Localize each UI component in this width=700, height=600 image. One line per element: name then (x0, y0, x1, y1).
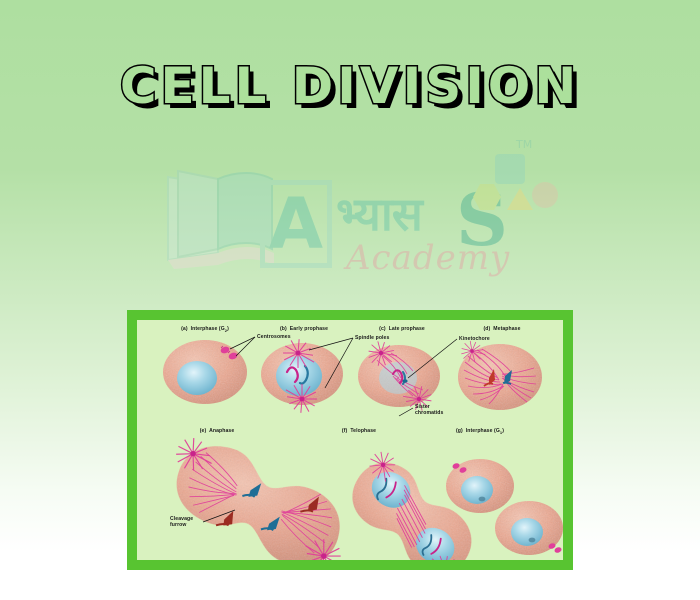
logo-circle-shape (532, 182, 558, 208)
logo-triangle-shape (507, 188, 533, 210)
logo-letter-s: S (456, 184, 508, 256)
cell-interphase-g2 (163, 337, 255, 404)
stage-caption-b: (b) Early prophase (280, 326, 328, 332)
stage-caption-c: (c) Late prophase (379, 326, 425, 332)
trademark-symbol: TM (516, 138, 532, 151)
page-title: CELL DIVISION (0, 58, 700, 114)
diagram-panel: (a) Interphase (G2) (b) Early prophase (… (137, 320, 563, 560)
stage-caption-d: (d) Metaphase (483, 326, 520, 332)
open-book-icon (160, 165, 280, 270)
abhyas-academy-watermark: A भ्यास S Academy TM (160, 140, 560, 305)
logo-devanagari-text: भ्यास (336, 182, 422, 244)
annotation-kinetochore: Kinetochore (459, 336, 490, 342)
slide-canvas: CELL DIVISION A भ्यास S Academy TM (0, 0, 700, 600)
daughter-cell-2 (495, 501, 563, 555)
cell-anaphase (149, 427, 368, 560)
cell-early-prophase (261, 338, 353, 413)
cell-late-prophase (358, 337, 457, 415)
logo-square-shape (495, 154, 525, 184)
annotation-cleavage-furrow-line2: furrow (170, 522, 186, 528)
annotation-centrosomes: Centrosomes (257, 334, 291, 340)
logo-tagline: Academy (346, 238, 510, 278)
logo-a-box: A (260, 180, 332, 268)
annotation-sister-chromatids-line2: chromatids (415, 410, 443, 416)
diagram-panel-border: (a) Interphase (G2) (b) Early prophase (… (127, 310, 573, 570)
logo-hexagon-shape (473, 184, 501, 210)
stage-caption-e: (e) Anaphase (200, 428, 235, 434)
stage-caption-f: (f) Telophase (342, 428, 376, 434)
cell-metaphase (458, 338, 542, 410)
logo-letter-a: A (265, 185, 327, 263)
annotation-spindle-poles: Spindle poles (355, 335, 389, 341)
cell-division-illustration (137, 320, 563, 560)
stage-caption-g: (g) Interphase (G1) (456, 428, 504, 436)
stage-caption-a: (a) Interphase (G2) (181, 326, 229, 334)
daughter-cell-1 (446, 459, 514, 513)
